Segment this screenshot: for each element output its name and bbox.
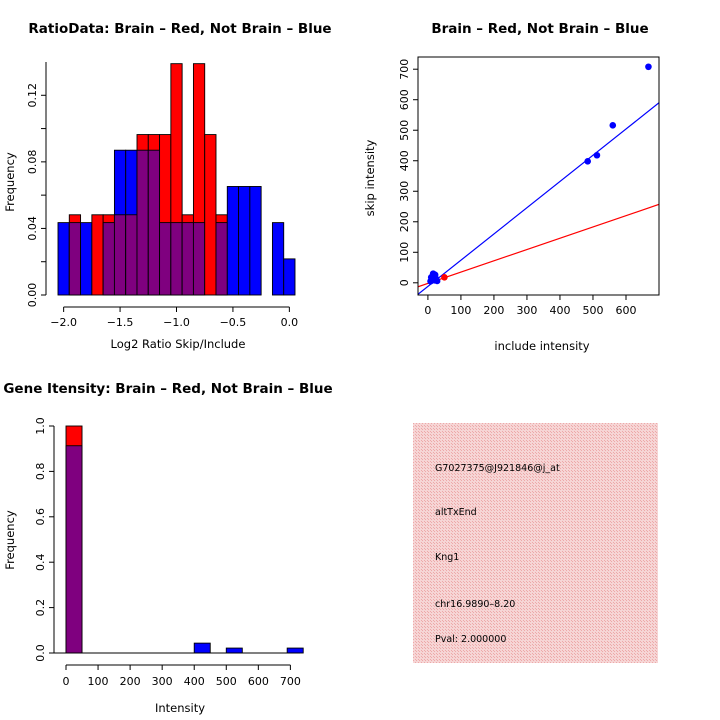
panel-ratio-histogram: RatioData: Brain – Red, Not Brain – Blue… <box>0 0 360 360</box>
info-panel-svg: G7027375@J921846@j_at altTxEnd Kng1 chr1… <box>413 423 658 663</box>
x-axis-tick-label: 200 <box>120 675 141 688</box>
histogram-bar-overlap <box>160 223 171 295</box>
y-axis-tick-label: 0.00 <box>26 283 39 308</box>
scatter-point <box>594 152 601 159</box>
x-axis-tick-label: 100 <box>450 304 471 317</box>
gene-histogram-xlabel: Intensity <box>155 701 205 715</box>
x-axis-tick-label: 300 <box>152 675 173 688</box>
scatter-svg: Brain – Red, Not Brain – Blue include in… <box>360 0 720 360</box>
y-axis-tick-label: 200 <box>398 211 411 232</box>
x-axis-tick-label: 700 <box>280 675 301 688</box>
y-axis-tick-label: 600 <box>398 89 411 110</box>
info-gene-symbol: Kng1 <box>435 552 459 563</box>
y-axis-tick-label: 0.6 <box>34 508 47 526</box>
histogram-bar-overlap <box>126 215 137 295</box>
histogram-bar-overlap <box>103 223 114 295</box>
gene-histogram-title: Gene Itensity: Brain – Red, Not Brain – … <box>3 381 332 397</box>
gene-histogram-ylabel: Frequency <box>3 510 17 570</box>
histogram-bar <box>226 648 242 653</box>
info-locus: chr16.9890–8.20 <box>435 599 515 610</box>
panel-scatter: Brain – Red, Not Brain – Blue include in… <box>360 0 720 360</box>
scatter-xlabel: include intensity <box>494 339 589 353</box>
x-axis-tick-label: 0.0 <box>281 316 299 329</box>
gene-histogram-bars <box>66 426 303 653</box>
fit-line-brain-fit <box>418 204 659 286</box>
x-axis-tick-label: 100 <box>88 675 109 688</box>
histogram-bar <box>284 259 295 295</box>
histogram-bar <box>92 215 103 295</box>
y-axis-tick-label: 0.8 <box>34 463 47 481</box>
y-axis-tick-label: 0 <box>398 279 411 286</box>
x-axis-tick-label: 0 <box>424 304 431 317</box>
y-axis-tick-label: 1.0 <box>34 417 47 435</box>
scatter-point <box>432 272 439 279</box>
panel-gene-histogram: Gene Itensity: Brain – Red, Not Brain – … <box>0 360 360 720</box>
scatter-clipped <box>418 103 659 295</box>
x-axis-tick-label: 400 <box>184 675 205 688</box>
ratio-histogram-svg: RatioData: Brain – Red, Not Brain – Blue… <box>0 0 360 360</box>
x-axis-tick-label: 400 <box>549 304 570 317</box>
histogram-bar-overlap <box>216 223 227 295</box>
scatter-title: Brain – Red, Not Brain – Blue <box>431 21 648 37</box>
y-axis-tick-label: 0.08 <box>26 150 39 175</box>
histogram-bar-overlap <box>193 223 204 295</box>
histogram-bar-overlap <box>171 223 182 295</box>
histogram-bar-overlap <box>182 223 193 295</box>
histogram-bar <box>272 223 283 295</box>
ratio-histogram-xlabel: Log2 Ratio Skip/Include <box>111 337 246 351</box>
y-axis-tick-label: 0.12 <box>26 83 39 108</box>
x-axis-tick-label: −2.0 <box>50 316 77 329</box>
ratio-histogram-title: RatioData: Brain – Red, Not Brain – Blue <box>28 21 331 37</box>
figure-canvas: RatioData: Brain – Red, Not Brain – Blue… <box>0 0 720 720</box>
y-axis-tick-label: 300 <box>398 181 411 202</box>
x-axis-tick-label: −0.5 <box>220 316 247 329</box>
ratio-histogram-bars <box>58 64 295 295</box>
x-axis-tick-label: 500 <box>216 675 237 688</box>
histogram-bar-overlap <box>137 150 148 295</box>
x-axis-tick-label: −1.0 <box>163 316 190 329</box>
gene-histogram-svg: Gene Itensity: Brain – Red, Not Brain – … <box>0 360 360 720</box>
scatter-point <box>609 122 616 129</box>
histogram-bar <box>81 223 92 295</box>
scatter-point <box>584 158 591 165</box>
fit-line-not-brain-fit <box>418 103 659 295</box>
histogram-bar-overlap <box>114 215 125 295</box>
x-axis-tick-label: 0 <box>63 675 70 688</box>
histogram-bar <box>205 135 216 295</box>
scatter-ylabel: skip intensity <box>363 139 377 216</box>
histogram-bar <box>287 648 303 653</box>
info-panel-background <box>413 423 658 663</box>
ratio-histogram-ylabel: Frequency <box>3 152 17 212</box>
x-axis-tick-label: 600 <box>615 304 636 317</box>
scatter-point <box>434 278 441 285</box>
scatter-point <box>645 63 652 70</box>
scatter-points <box>427 63 651 284</box>
info-event-type: altTxEnd <box>435 507 477 518</box>
histogram-bar <box>227 186 238 295</box>
y-axis-tick-label: 700 <box>398 59 411 80</box>
histogram-bar <box>58 223 69 295</box>
info-probeset-id: G7027375@J921846@j_at <box>435 463 560 474</box>
panel-info: G7027375@J921846@j_at altTxEnd Kng1 chr1… <box>413 423 658 663</box>
y-axis-tick-label: 0.4 <box>34 553 47 571</box>
x-axis-tick-label: 300 <box>516 304 537 317</box>
x-axis-tick-label: 500 <box>582 304 603 317</box>
histogram-bar <box>239 186 250 295</box>
y-axis-tick-label: 400 <box>398 150 411 171</box>
histogram-bar <box>250 186 261 295</box>
histogram-bar-overlap <box>69 223 80 295</box>
y-axis-tick-label: 0.04 <box>26 216 39 241</box>
scatter-fit-lines <box>418 103 659 295</box>
plot-box <box>418 57 659 295</box>
y-axis-tick-label: 0.2 <box>34 599 47 617</box>
y-axis-tick-label: 0.0 <box>34 644 47 662</box>
histogram-bar-overlap <box>148 150 159 295</box>
y-axis-tick-label: 100 <box>398 242 411 263</box>
y-axis-tick-label: 500 <box>398 120 411 141</box>
scatter-point <box>441 274 448 281</box>
x-axis-tick-label: 200 <box>483 304 504 317</box>
info-pval: Pval: 2.000000 <box>435 634 506 645</box>
x-axis-tick-label: −1.5 <box>107 316 134 329</box>
histogram-bar-overlap <box>66 446 82 653</box>
x-axis-tick-label: 600 <box>248 675 269 688</box>
histogram-bar <box>194 643 210 653</box>
